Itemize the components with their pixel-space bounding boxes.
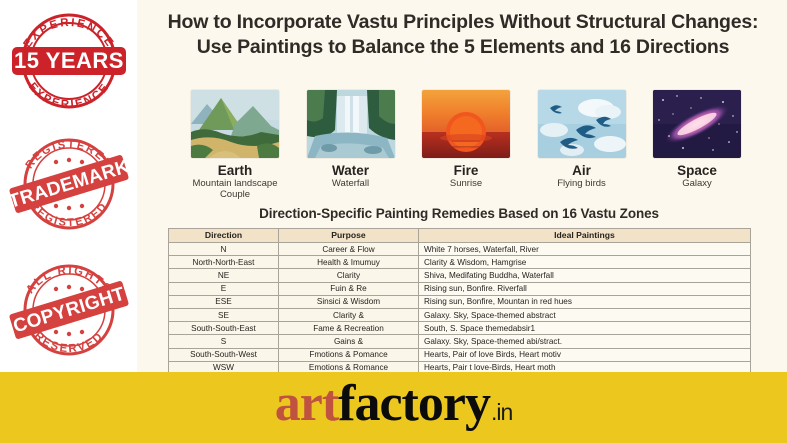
element-name: Earth [186, 163, 284, 178]
logo-text-art: art [275, 378, 338, 430]
table-row: South-South-EastFame & RecreationSouth, … [169, 322, 751, 335]
artfactory-logo[interactable]: artfactory.in [275, 378, 513, 438]
table-cell-purpose: Career & Flow [279, 243, 419, 256]
table-cell-direction: SE [169, 308, 279, 321]
column-header-ideal-paintings: Ideal Paintings [419, 229, 751, 243]
copyright-stamp-icon: ALL RIGHTS RESERVED COPYRIGHT [4, 252, 134, 370]
svg-text:EXPERIENCE: EXPERIENCE [25, 81, 111, 112]
element-card-fire: Fire Sunrise [417, 90, 515, 189]
badge-rail: EXPERIENCE EXPERIENCE 15 YEARS REGISTERE… [0, 0, 137, 372]
table-row: ESESinsici & WisdomRising sun, Bonfire, … [169, 295, 751, 308]
element-name: Air [533, 163, 631, 178]
table-cell-direction: North-North-East [169, 256, 279, 269]
logo-text-factory: factory [338, 378, 490, 430]
table-cell-direction: S [169, 335, 279, 348]
table-row: NCareer & FlowWhite 7 horses, Waterfall,… [169, 243, 751, 256]
element-desc: Flying birds [533, 178, 631, 189]
table-cell-purpose: Clarity [279, 269, 419, 282]
table-cell-ideal-paintings: South, S. Space themedabsir1 [419, 322, 751, 335]
element-desc: Mountain landscapeCouple [186, 178, 284, 200]
element-name: Fire [417, 163, 515, 178]
table-cell-direction: NE [169, 269, 279, 282]
table-cell-direction: South-South-West [169, 348, 279, 361]
waterfall-painting-icon [307, 90, 395, 158]
table-cell-ideal-paintings: White 7 horses, Waterfall, River [419, 243, 751, 256]
element-card-space: Space Galaxy [648, 90, 746, 189]
table-row: NEClarityShiva, Medifating Buddha, Water… [169, 269, 751, 282]
column-header-direction: Direction [169, 229, 279, 243]
table-cell-purpose: Health & Imumuy [279, 256, 419, 269]
table-cell-purpose: Clarity & [279, 308, 419, 321]
five-elements-strip: Earth Mountain landscapeCouple [186, 90, 746, 195]
table-cell-purpose: Fmotions & Pomance [279, 348, 419, 361]
sunrise-painting-icon [422, 90, 510, 158]
badge-15-years-experience: EXPERIENCE EXPERIENCE 15 YEARS [0, 6, 137, 116]
table-cell-ideal-paintings: Clarity & Wisdom, Hamgrise [419, 256, 751, 269]
table-cell-direction: ESE [169, 295, 279, 308]
page-title: How to Incorporate Vastu Principles With… [148, 10, 778, 60]
vastu-remedies-table: Direction Purpose Ideal Paintings NCaree… [168, 228, 751, 375]
galaxy-painting-icon [653, 90, 741, 158]
table-cell-ideal-paintings: Rising sun, Bonfire. Riverfall [419, 282, 751, 295]
table-header-row: Direction Purpose Ideal Paintings [169, 229, 751, 243]
badge-registered-trademark: REGISTERED REGISTERED TRADEMARK [0, 126, 137, 244]
table-row: South-South-WestFmotions & PomanceHearts… [169, 348, 751, 361]
table-row: EFuin & ReRising sun, Bonfire. Riverfall [169, 282, 751, 295]
column-header-purpose: Purpose [279, 229, 419, 243]
element-card-air: Air Flying birds [533, 90, 631, 189]
flying-birds-painting-icon [538, 90, 626, 158]
table-cell-ideal-paintings: Hearts, Pair of love Birds, Heart motiv [419, 348, 751, 361]
table-cell-ideal-paintings: Galaxy. Sky, Space-themed abstract [419, 308, 751, 321]
table-cell-purpose: Fame & Recreation [279, 322, 419, 335]
element-desc: Galaxy [648, 178, 746, 189]
element-card-earth: Earth Mountain landscapeCouple [186, 90, 284, 200]
logo-text-tld: .in [491, 386, 512, 438]
vastu-table-wrapper: Direction Purpose Ideal Paintings NCaree… [168, 228, 750, 375]
brand-footer: artfactory.in [0, 372, 787, 443]
svg-text:15 YEARS: 15 YEARS [14, 48, 124, 73]
mountain-painting-icon [191, 90, 279, 158]
table-cell-direction: N [169, 243, 279, 256]
table-cell-direction: South-South-East [169, 322, 279, 335]
table-cell-purpose: Sinsici & Wisdom [279, 295, 419, 308]
table-cell-direction: E [169, 282, 279, 295]
svg-text:EXPERIENCE: EXPERIENCE [21, 17, 116, 51]
table-row: SEClarity &Galaxy. Sky, Space-themed abs… [169, 308, 751, 321]
element-desc: Waterfall [302, 178, 400, 189]
element-card-water: Water Waterfall [302, 90, 400, 189]
table-row: SGains &Galaxy. Sky, Space-themed abi/st… [169, 335, 751, 348]
experience-stamp-icon: EXPERIENCE EXPERIENCE 15 YEARS [4, 6, 134, 116]
element-desc: Sunrise [417, 178, 515, 189]
table-cell-ideal-paintings: Rising sun, Bonfire, Mountan in red hues [419, 295, 751, 308]
table-cell-purpose: Fuin & Re [279, 282, 419, 295]
table-caption: Direction-Specific Painting Remedies Bas… [168, 206, 750, 221]
table-cell-purpose: Gains & [279, 335, 419, 348]
table-cell-ideal-paintings: Galaxy. Sky, Space-themed abi/stract. [419, 335, 751, 348]
element-name: Space [648, 163, 746, 178]
badge-copyright-all-rights-reserved: ALL RIGHTS RESERVED COPYRIGHT [0, 252, 137, 370]
table-cell-ideal-paintings: Shiva, Medifating Buddha, Waterfall [419, 269, 751, 282]
table-body: NCareer & FlowWhite 7 horses, Waterfall,… [169, 243, 751, 375]
table-row: North-North-EastHealth & ImumuyClarity &… [169, 256, 751, 269]
element-name: Water [302, 163, 400, 178]
infographic-page: EXPERIENCE EXPERIENCE 15 YEARS REGISTERE… [0, 0, 787, 443]
trademark-stamp-icon: REGISTERED REGISTERED TRADEMARK [4, 126, 134, 244]
